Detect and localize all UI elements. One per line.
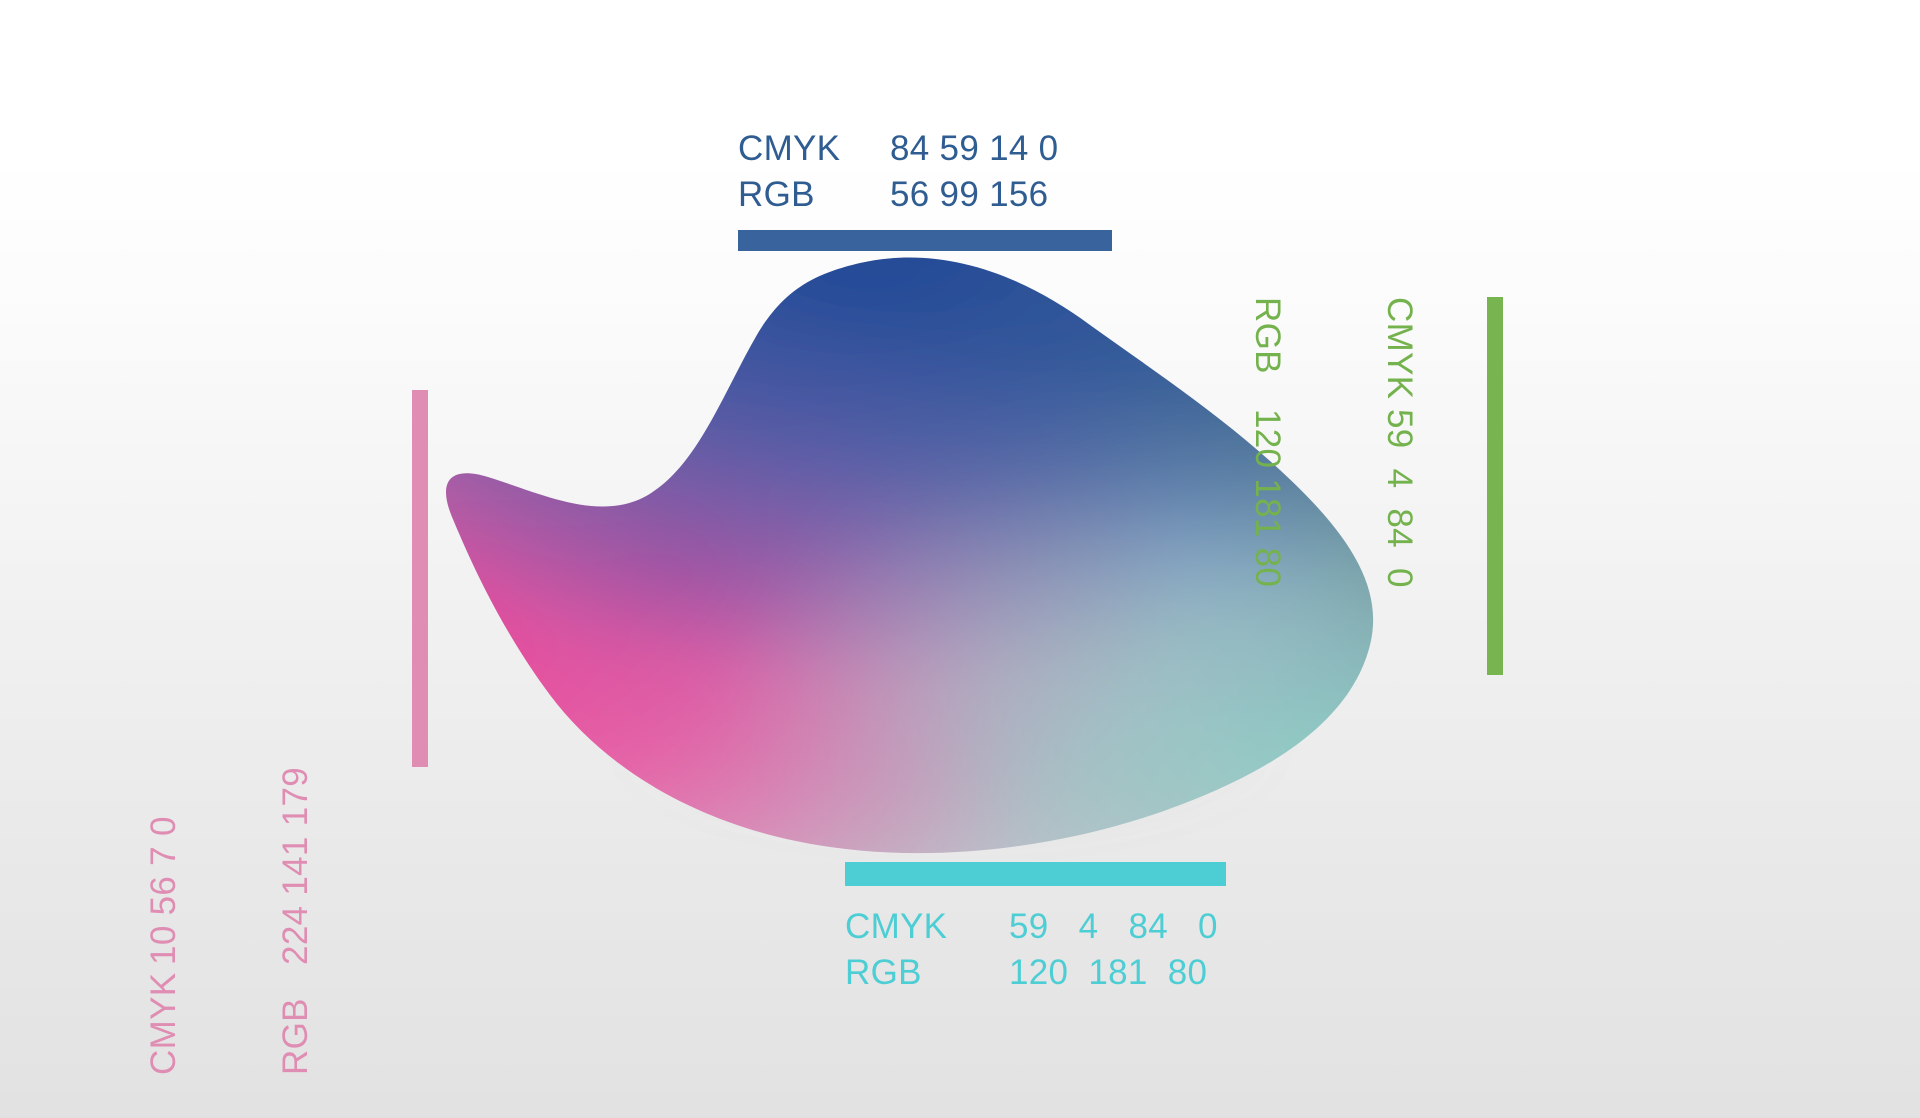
swatch-bottom-color-bar [845,862,1226,886]
swatch-bottom-rgb-row: RGB 120 181 80 [845,950,1305,996]
swatch-bottom-rgb-values: 120 181 80 [1009,950,1207,996]
swatch-right-rgb-values: 120 181 80 [1245,409,1289,587]
swatch-top-cmyk-values: 84 59 14 0 [890,126,1058,172]
swatch-right-cmyk-row: CMYK 59 4 84 0 [1377,297,1421,588]
swatch-left-cmyk-row: CMYK 10 56 7 0 [142,767,186,1075]
swatch-right-rgb-row: RGB 120 181 80 [1245,297,1289,588]
swatch-bottom-values: CMYK 59 4 84 0 RGB 120 181 80 [845,904,1305,996]
swatch-top-cmyk-row: CMYK 84 59 14 0 [738,126,1158,172]
swatch-bottom-cmyk-values: 59 4 84 0 [1009,904,1218,950]
swatch-left-values: CMYK 10 56 7 0 RGB 224 141 179 [54,767,406,1075]
swatch-bottom-cyan: CMYK 59 4 84 0 RGB 120 181 80 [845,862,1305,996]
swatch-left-rgb-row: RGB 224 141 179 [274,767,318,1075]
swatch-left-cmyk-values: 10 56 7 0 [142,816,186,965]
swatch-left-color-bar [412,390,428,767]
swatch-left-rgb-values: 224 141 179 [274,767,318,965]
swatch-bottom-rgb-label: RGB [845,950,1009,996]
swatch-left-pink: CMYK 10 56 7 0 RGB 224 141 179 [412,390,428,767]
swatch-top-cmyk-label: CMYK [738,126,890,172]
swatch-left-cmyk-label: CMYK [142,965,186,1075]
swatch-right-green: CMYK 59 4 84 0 RGB 120 181 80 [1487,297,1503,675]
artwork-canvas: CMYK 84 59 14 0 RGB 56 99 156 CMYK 59 4 … [0,0,1920,1118]
swatch-top-values: CMYK 84 59 14 0 RGB 56 99 156 [738,126,1158,218]
swatch-top-rgb-label: RGB [738,172,890,218]
swatch-right-cmyk-values: 59 4 84 0 [1377,409,1421,588]
swatch-top-rgb-values: 56 99 156 [890,172,1048,218]
swatch-top-rgb-row: RGB 56 99 156 [738,172,1158,218]
swatch-top-blue: CMYK 84 59 14 0 RGB 56 99 156 [738,126,1158,251]
swatch-right-rgb-label: RGB [1245,297,1289,409]
swatch-right-values: CMYK 59 4 84 0 RGB 120 181 80 [1157,297,1509,588]
swatch-top-color-bar [738,230,1112,251]
swatch-left-rgb-label: RGB [274,965,318,1075]
swatch-right-cmyk-label: CMYK [1377,297,1421,409]
swatch-bottom-cmyk-label: CMYK [845,904,1009,950]
swatch-bottom-cmyk-row: CMYK 59 4 84 0 [845,904,1305,950]
